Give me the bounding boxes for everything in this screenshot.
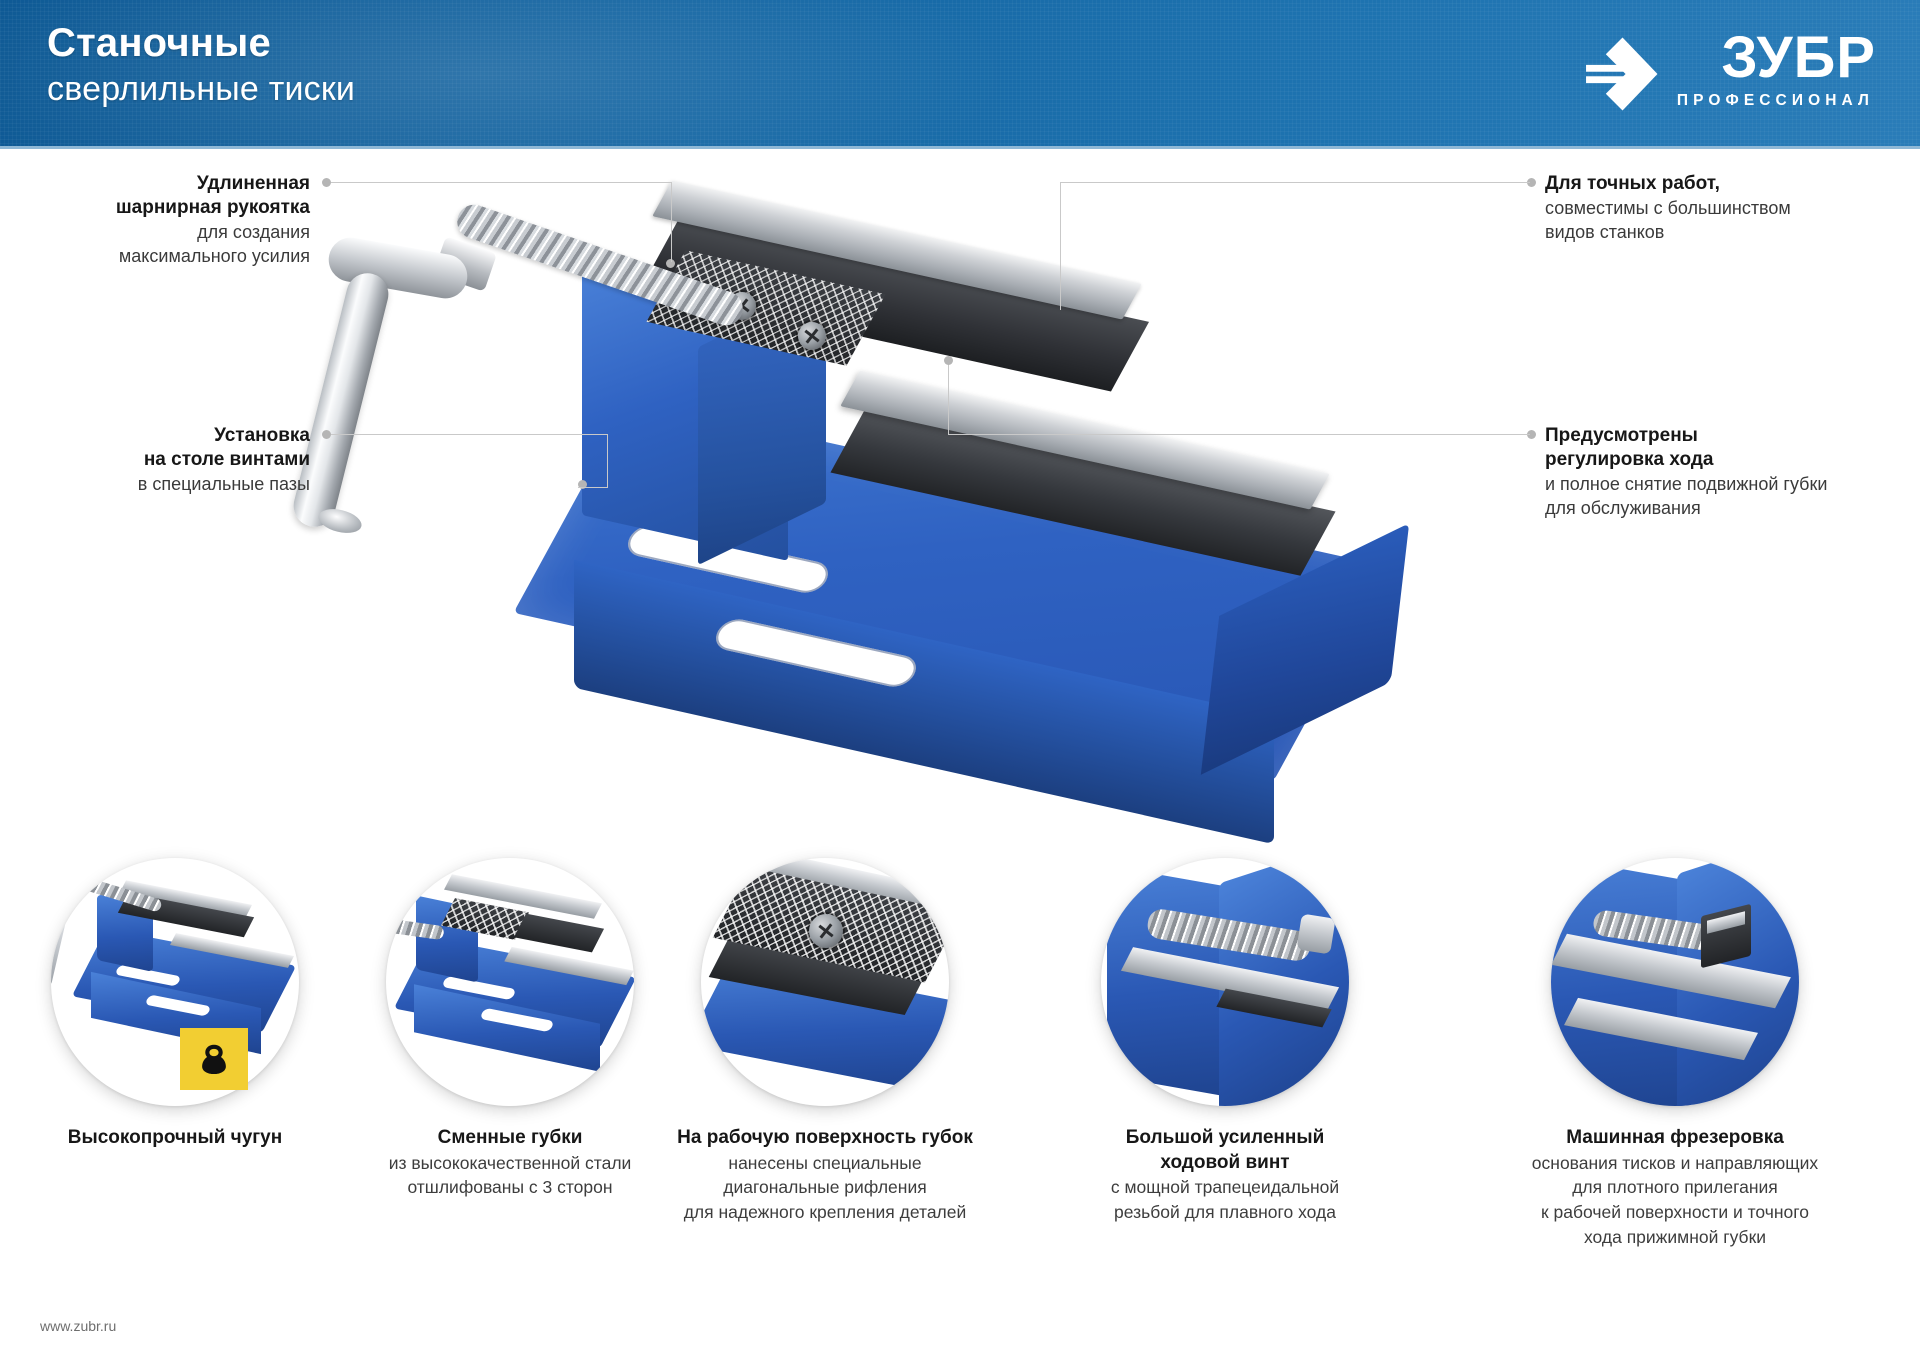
- title-main: Станочные: [47, 22, 355, 65]
- callout-title-line2: регулировка хода: [1545, 448, 1913, 472]
- feature-body-line: основания тисков и направляющих: [1454, 1152, 1896, 1176]
- page-header: Станочные сверлильные тиски ЗУБР ПРОФЕСС…: [0, 0, 1920, 148]
- feature-title-line1: Большой усиленный: [1034, 1126, 1416, 1151]
- callout-dot-handle: [322, 178, 331, 187]
- zubr-diamond-icon: [1583, 36, 1659, 112]
- feature-thumb-wrap: [701, 858, 949, 1106]
- feature-body-line: к рабочей поверхности и точного: [1454, 1201, 1896, 1225]
- feature-thumb-wrap: [1101, 858, 1349, 1106]
- callout-title-line1: Предусмотрены: [1545, 424, 1913, 448]
- callout-body-line1: для создания: [20, 220, 310, 244]
- feature-thumbnail: [1551, 858, 1799, 1106]
- leader-line-precision-v: [1060, 182, 1061, 310]
- leader-line-mounting-v: [607, 434, 608, 488]
- feature-thumbnail: [1101, 858, 1349, 1106]
- callout-precision: Для точных работ, совместимы с большинст…: [1545, 172, 1895, 244]
- status-badge-cast-iron: [180, 1028, 248, 1090]
- jaw-screw-icon: [809, 914, 843, 948]
- callout-handle: Удлиненная шарнирная рукоятка для создан…: [20, 172, 310, 268]
- feature-body-line: диагональные рифления: [619, 1176, 1031, 1200]
- callout-body-line2: видов станков: [1545, 220, 1895, 244]
- leader-line-travel-v: [948, 362, 949, 435]
- callout-dot-mounting: [322, 430, 331, 439]
- footer-website-url[interactable]: www.zubr.ru: [40, 1318, 116, 1334]
- callout-body-line1: в специальные пазы: [20, 472, 310, 496]
- kettlebell-icon: [195, 1040, 233, 1078]
- feature-body-line: для надежного крепления деталей: [619, 1201, 1031, 1225]
- callout-title-line1: Установка: [20, 424, 310, 448]
- page-title: Станочные сверлильные тиски: [47, 22, 355, 110]
- brand-logo: ЗУБР ПРОФЕССИОНАЛ: [1583, 30, 1876, 112]
- feature-title: На рабочую поверхность губок: [619, 1126, 1031, 1151]
- callout-title-line1: Для точных работ,: [1545, 172, 1895, 196]
- feature-thumb-wrap: [1551, 858, 1799, 1106]
- callout-title-line2: шарнирная рукоятка: [20, 196, 310, 220]
- feature-title: Высокопрочный чугун: [0, 1126, 351, 1151]
- leader-line-handle-v: [671, 182, 672, 262]
- logo-tagline: ПРОФЕССИОНАЛ: [1677, 92, 1874, 110]
- feature-machined-base: Машинная фрезеровка основания тисков и н…: [1450, 858, 1900, 1249]
- leader-line-precision: [1060, 182, 1530, 183]
- thumb-art-lead-screw: [1101, 858, 1349, 1106]
- product-image-drill-press-vise: [330, 170, 1510, 860]
- feature-thumb-wrap: [386, 858, 634, 1106]
- feature-lead-screw: Большой усиленный ходовой винт с мощной …: [1030, 858, 1420, 1225]
- callout-body-line1: и полное снятие подвижной губки: [1545, 472, 1913, 496]
- leader-line-travel: [948, 434, 1530, 435]
- feature-thumbnail: [701, 858, 949, 1106]
- feature-caption: На рабочую поверхность губок нанесены сп…: [615, 1126, 1035, 1225]
- leader-line-handle: [331, 182, 671, 183]
- callout-mounting: Установка на столе винтами в специальные…: [20, 424, 310, 496]
- leader-line-mounting: [331, 434, 607, 435]
- logo-word: ЗУБР: [1721, 30, 1876, 87]
- title-sub: сверлильные тиски: [47, 69, 355, 110]
- leader-line-mounting-h2: [578, 487, 608, 488]
- feature-caption: Высокопрочный чугун: [0, 1126, 355, 1151]
- thumb-art-knurling: [701, 858, 949, 1106]
- callout-anchor-travel: [944, 356, 953, 365]
- feature-thumb-wrap: [51, 858, 299, 1106]
- feature-thumbnail: [51, 858, 299, 1106]
- vise-handle-end-cap: [316, 505, 364, 537]
- callout-title-line2: на столе винтами: [20, 448, 310, 472]
- hero-section: Удлиненная шарнирная рукоятка для создан…: [0, 150, 1920, 870]
- callout-title-line1: Удлиненная: [20, 172, 310, 196]
- logo-text: ЗУБР ПРОФЕССИОНАЛ: [1677, 30, 1876, 110]
- callout-travel-adjust: Предусмотрены регулировка хода и полное …: [1545, 424, 1913, 520]
- feature-title-line2: ходовой винт: [1034, 1151, 1416, 1176]
- callout-body-line2: для обслуживания: [1545, 496, 1913, 520]
- feature-body-line: резьбой для плавного хода: [1034, 1201, 1416, 1225]
- jaw-screw-icon: [798, 322, 826, 350]
- feature-body-line: для плотного прилегания: [1454, 1176, 1896, 1200]
- thumb-art-vise-full: [51, 858, 299, 1106]
- feature-thumbnail: [386, 858, 634, 1106]
- feature-caption: Машинная фрезеровка основания тисков и н…: [1450, 1126, 1900, 1249]
- callout-body-line2: максимального усилия: [20, 244, 310, 268]
- callout-body-line1: совместимы с большинством: [1545, 196, 1895, 220]
- features-section: Высокопрочный чугун См: [0, 858, 1920, 1358]
- feature-body-line: хода прижимной губки: [1454, 1226, 1896, 1250]
- feature-title: Машинная фрезеровка: [1454, 1126, 1896, 1151]
- feature-cast-iron: Высокопрочный чугун: [0, 858, 355, 1151]
- feature-jaw-knurling: На рабочую поверхность губок нанесены сп…: [615, 858, 1035, 1225]
- feature-caption: Большой усиленный ходовой винт с мощной …: [1030, 1126, 1420, 1225]
- thumb-art-machined-base: [1551, 858, 1799, 1106]
- header-divider: [0, 146, 1920, 149]
- thumb-art-jaws: [386, 858, 634, 1106]
- feature-body-line: нанесены специальные: [619, 1152, 1031, 1176]
- feature-body-line: с мощной трапецеидальной: [1034, 1176, 1416, 1200]
